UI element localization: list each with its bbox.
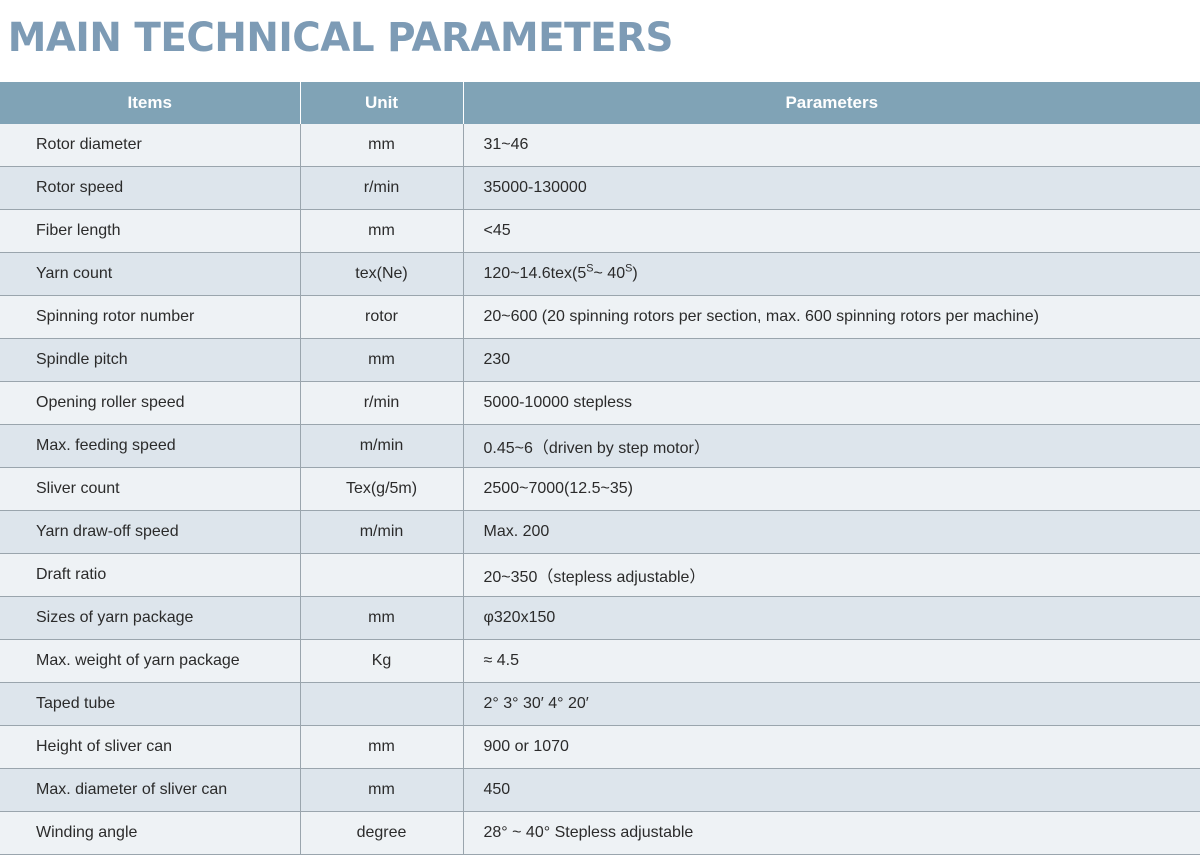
cell-item: Spindle pitch [0,339,300,382]
table-row: Max. diameter of sliver canmm450 [0,769,1200,812]
cell-parameters: 20~350（stepless adjustable） [463,554,1200,597]
cell-item: Draft ratio [0,554,300,597]
cell-parameters: 31~46 [463,124,1200,167]
table-body: Rotor diametermm31~46Rotor speedr/min350… [0,124,1200,855]
cell-unit: Tex(g/5m) [300,468,463,511]
cell-unit: Kg [300,640,463,683]
cell-parameters: 28° ~ 40° Stepless adjustable [463,812,1200,855]
cell-unit: m/min [300,425,463,468]
cell-unit [300,683,463,726]
column-header-parameters: Parameters [463,82,1200,124]
cell-item: Taped tube [0,683,300,726]
cell-item: Max. weight of yarn package [0,640,300,683]
cell-item: Max. diameter of sliver can [0,769,300,812]
cell-item: Rotor diameter [0,124,300,167]
cell-item: Sliver count [0,468,300,511]
column-header-unit: Unit [300,82,463,124]
cell-parameters: 0.45~6（driven by step motor） [463,425,1200,468]
cell-parameters: 120~14.6tex(5S~ 40S) [463,253,1200,296]
cell-unit: mm [300,726,463,769]
cell-item: Yarn draw-off speed [0,511,300,554]
cell-unit: mm [300,597,463,640]
table-header-row: Items Unit Parameters [0,82,1200,124]
page-title: MAIN TECHNICAL PARAMETERS [0,0,1164,58]
table-row: Taped tube2° 3° 30′ 4° 20′ [0,683,1200,726]
cell-unit: mm [300,769,463,812]
table-row: Winding angledegree28° ~ 40° Stepless ad… [0,812,1200,855]
cell-parameters: <45 [463,210,1200,253]
cell-item: Sizes of yarn package [0,597,300,640]
table-row: Sliver countTex(g/5m)2500~7000(12.5~35) [0,468,1200,511]
table-row: Yarn draw-off speedm/minMax. 200 [0,511,1200,554]
cell-parameters: φ320x150 [463,597,1200,640]
table-header: Items Unit Parameters [0,82,1200,124]
cell-item: Max. feeding speed [0,425,300,468]
cell-unit: mm [300,124,463,167]
cell-parameters: 35000-130000 [463,167,1200,210]
cell-parameters: 2° 3° 30′ 4° 20′ [463,683,1200,726]
cell-item: Winding angle [0,812,300,855]
cell-item: Opening roller speed [0,382,300,425]
table-row: Spindle pitchmm230 [0,339,1200,382]
cell-item: Yarn count [0,253,300,296]
table-row: Spinning rotor numberrotor20~600 (20 spi… [0,296,1200,339]
table-row: Opening roller speedr/min5000-10000 step… [0,382,1200,425]
cell-item: Spinning rotor number [0,296,300,339]
cell-unit: mm [300,210,463,253]
table-row: Sizes of yarn packagemmφ320x150 [0,597,1200,640]
cell-unit: mm [300,339,463,382]
cell-unit [300,554,463,597]
cell-unit: m/min [300,511,463,554]
table-row: Rotor speedr/min35000-130000 [0,167,1200,210]
technical-parameters-table: Items Unit Parameters Rotor diametermm31… [0,82,1200,855]
table-row: Max. weight of yarn packageKg≈ 4.5 [0,640,1200,683]
cell-unit: rotor [300,296,463,339]
cell-item: Fiber length [0,210,300,253]
column-header-items: Items [0,82,300,124]
cell-parameters: 20~600 (20 spinning rotors per section, … [463,296,1200,339]
table-row: Draft ratio20~350（stepless adjustable） [0,554,1200,597]
cell-unit: tex(Ne) [300,253,463,296]
cell-parameters: 900 or 1070 [463,726,1200,769]
cell-item: Height of sliver can [0,726,300,769]
table-row: Max. feeding speedm/min0.45~6（driven by … [0,425,1200,468]
table-row: Fiber lengthmm<45 [0,210,1200,253]
cell-parameters: 230 [463,339,1200,382]
cell-parameters: 450 [463,769,1200,812]
cell-item: Rotor speed [0,167,300,210]
cell-parameters: 5000-10000 stepless [463,382,1200,425]
table-row: Yarn counttex(Ne)120~14.6tex(5S~ 40S) [0,253,1200,296]
cell-parameters: ≈ 4.5 [463,640,1200,683]
cell-unit: degree [300,812,463,855]
cell-unit: r/min [300,167,463,210]
cell-unit: r/min [300,382,463,425]
table-row: Height of sliver canmm900 or 1070 [0,726,1200,769]
table-row: Rotor diametermm31~46 [0,124,1200,167]
cell-parameters: Max. 200 [463,511,1200,554]
cell-parameters: 2500~7000(12.5~35) [463,468,1200,511]
